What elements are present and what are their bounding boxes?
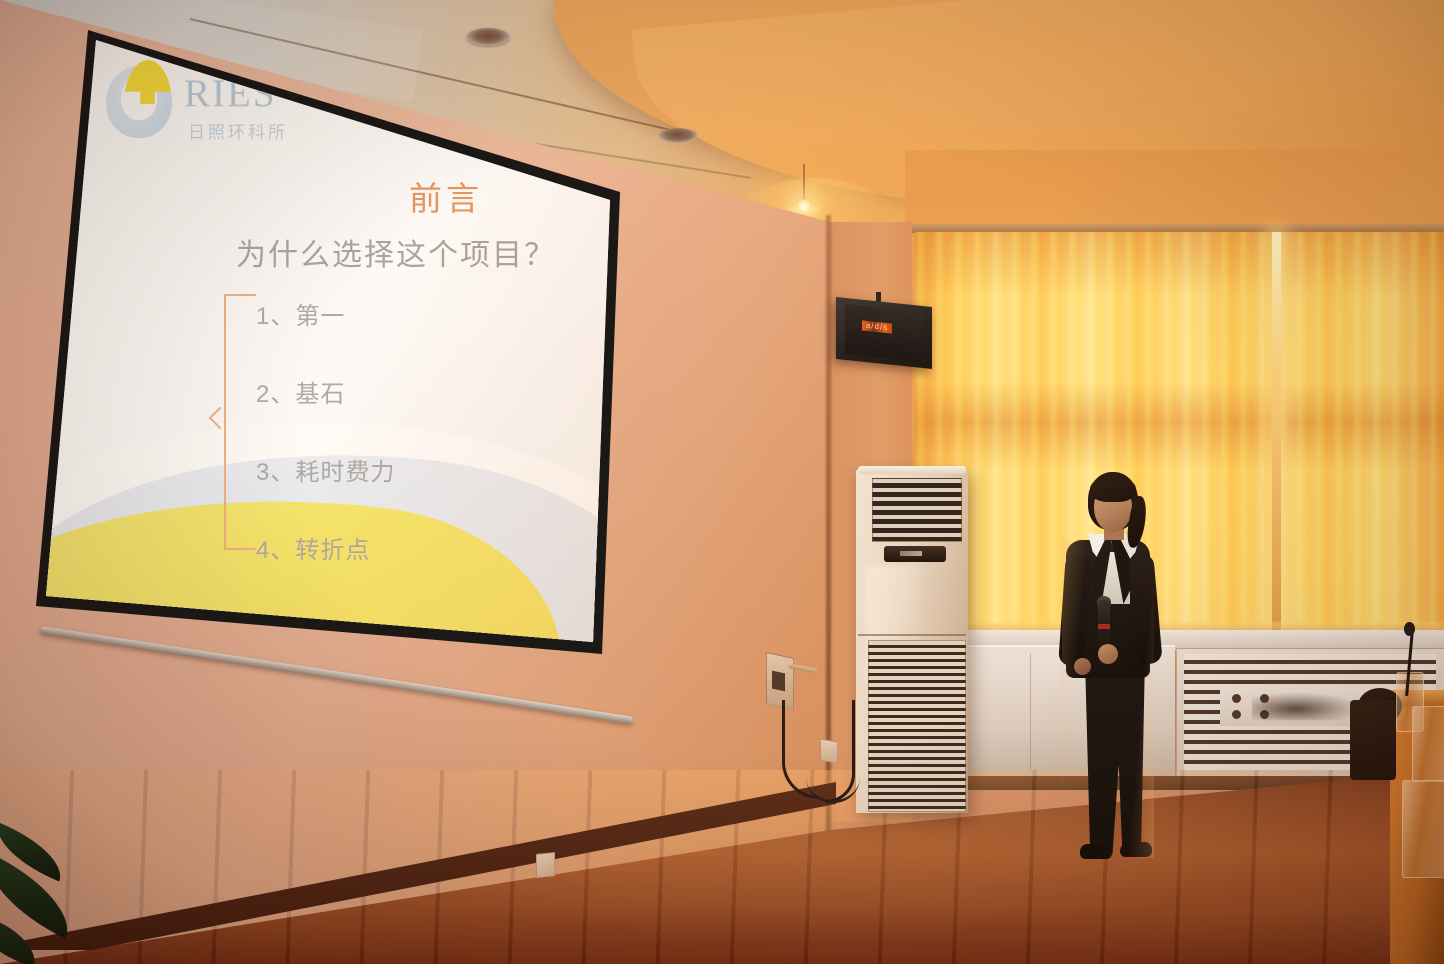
presenter-hand [1098,644,1118,664]
curtain-folds [915,232,1444,644]
water-glass [1412,706,1444,782]
presenter-hand [1074,658,1091,675]
air-conditioner-top [858,466,966,474]
presentation-room-photo: RIES 日照环科所 前言 为什么选择这个项目？ 1、第一 2、基石 3、耗时费… [0,0,1444,964]
presenter-person [1036,472,1176,882]
water-glass [1402,780,1444,878]
presenter-shoe [1080,844,1112,859]
air-conditioner-vent [872,478,962,542]
microphone-head-icon [1404,622,1415,636]
microphone-band [1098,624,1110,629]
air-conditioner-seam [858,634,966,636]
presenter-shoe [1120,842,1152,857]
power-outlet[interactable] [536,852,555,878]
wood-floor-planks [0,770,1444,964]
podium-equipment [1350,700,1396,780]
potted-plant [0,836,120,964]
presenter-hair-front [1090,476,1136,502]
presenter-legs [1084,668,1146,854]
wall-plate-socket[interactable] [772,671,785,692]
curtain-light-gap [1272,232,1281,632]
recessed-downlight-icon [466,28,510,46]
radiator-decorative-art [1252,692,1362,720]
recessed-downlight-icon [658,128,698,143]
speaker-face [845,304,923,362]
air-conditioner-led [900,551,922,556]
air-conditioner-louvers [868,640,966,812]
